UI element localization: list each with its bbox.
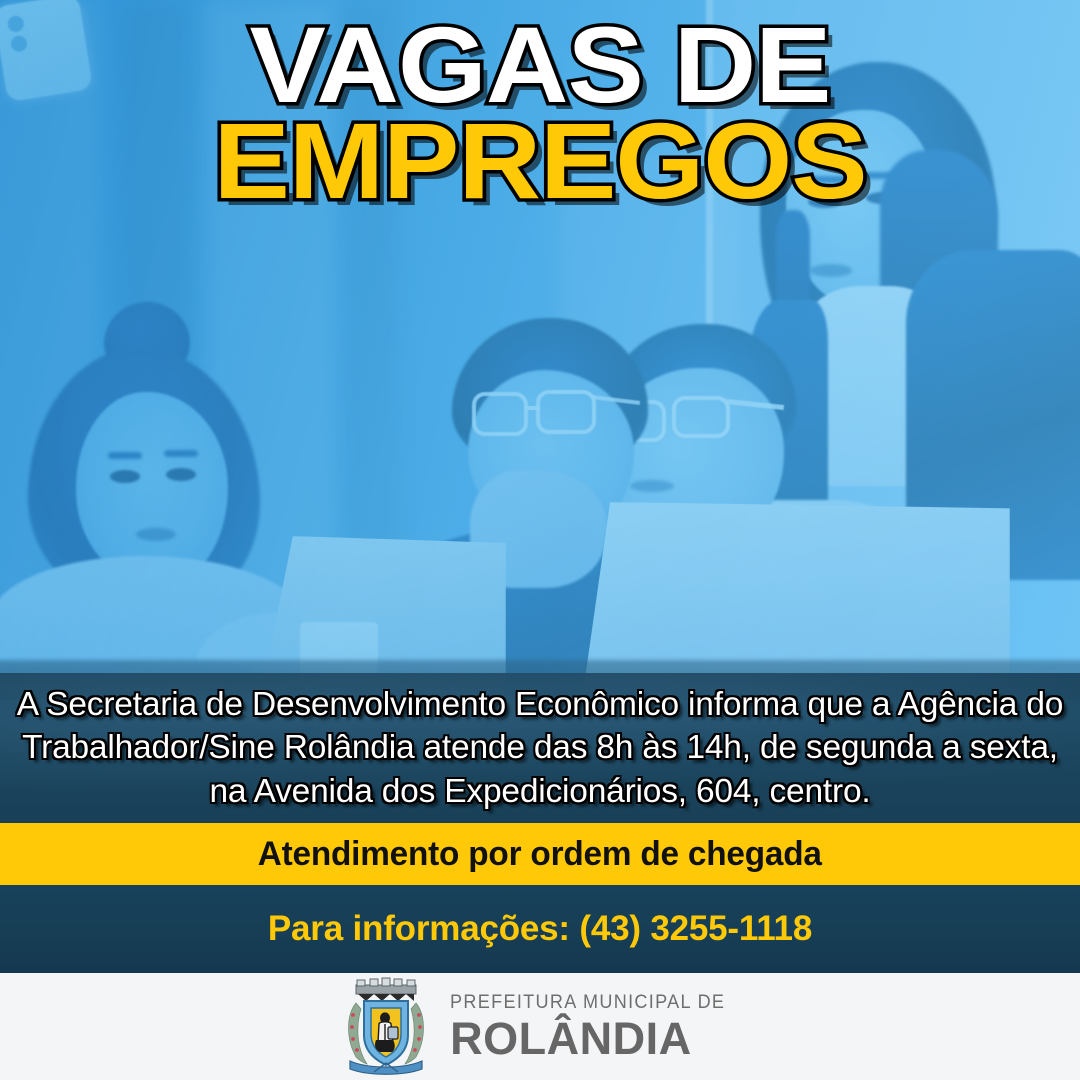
info-paragraph: A Secretaria de Desenvolvimento Econômic… (15, 683, 1065, 813)
highlight-band: Atendimento por ordem de chegada (0, 823, 1080, 885)
contact-band: Para informações: (43) 3255-1118 (0, 885, 1080, 973)
footer-logo-text: PREFEITURA MUNICIPAL DE ROLÂNDIA (450, 993, 740, 1061)
footer-logo-bar: PREFEITURA MUNICIPAL DE ROLÂNDIA (0, 973, 1080, 1080)
highlight-text: Atendimento por ordem de chegada (258, 835, 822, 874)
job-vacancies-poster: VAGAS DE EMPREGOS A Secretaria de Desenv… (0, 0, 1080, 1080)
hero-photo (0, 0, 1080, 700)
footer-logo-top: PREFEITURA MUNICIPAL DE (450, 993, 725, 1012)
coat-of-arms-icon (340, 977, 432, 1077)
info-band: A Secretaria de Desenvolvimento Econômic… (0, 673, 1080, 823)
blue-tint-overlay (0, 0, 1080, 700)
contact-text: Para informações: (43) 3255-1118 (268, 909, 812, 949)
footer-logo-bottom: ROLÂNDIA (450, 1016, 740, 1061)
